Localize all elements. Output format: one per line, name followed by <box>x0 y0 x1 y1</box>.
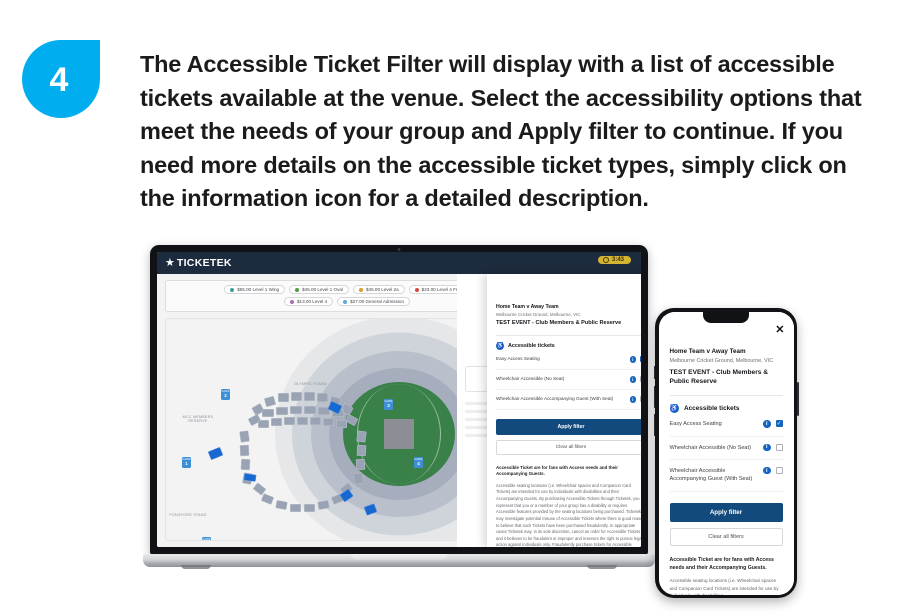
legend-color-dot <box>290 300 294 304</box>
modal-description-body: Accessible seating locations (i.e. Wheel… <box>670 577 783 594</box>
seat-block[interactable] <box>278 393 289 402</box>
seat-block[interactable] <box>291 392 302 401</box>
seat-block[interactable] <box>310 417 321 425</box>
close-icon[interactable]: ✕ <box>640 279 641 288</box>
legend-color-dot <box>359 288 363 292</box>
seat-block[interactable] <box>356 430 366 442</box>
legend-label: $45.00 Level 1 Oval <box>302 287 343 292</box>
price-legend-row-1: $55.00 Level 1 Wing $45.00 Level 1 Oval … <box>224 285 470 294</box>
seat-block[interactable] <box>297 417 308 425</box>
information-icon[interactable]: i <box>630 396 637 403</box>
filter-option-row[interactable]: Wheelchair Accessible Accompanying Guest… <box>496 390 641 410</box>
legend-label: $45.00 Level 2a <box>366 287 399 292</box>
seat-block[interactable] <box>317 393 328 402</box>
seat-block[interactable] <box>258 420 269 428</box>
clear-all-filters-button[interactable]: Clear all filters <box>496 440 641 455</box>
seat-block[interactable] <box>241 459 251 470</box>
seat-block[interactable] <box>264 396 276 407</box>
filter-option-checkbox[interactable] <box>776 444 783 451</box>
stand-label-ponsford: PONSFORD STAND <box>168 513 208 517</box>
accessibility-icon: ♿ <box>670 404 680 414</box>
legend-item[interactable]: $45.00 Level 2a <box>353 285 405 294</box>
seat-block[interactable] <box>271 418 282 426</box>
laptop-camera-icon <box>398 248 401 251</box>
step-number: 4 <box>50 63 69 97</box>
seat-block[interactable] <box>323 418 334 426</box>
modal-event-name: TEST EVENT - Club Members & Public Reser… <box>670 368 783 386</box>
filter-option-label: Easy Access Seating <box>670 420 759 428</box>
filter-option-label: Wheelchair Accessible Accompanying Guest… <box>496 396 626 403</box>
modal-event-name: TEST EVENT - Club Members & Public Reser… <box>496 320 641 328</box>
apply-filter-button[interactable]: Apply filter <box>670 503 783 522</box>
filter-option-row[interactable]: Wheelchair Accessible (No Seat) i <box>670 437 783 460</box>
filter-option-label: Wheelchair Accessible Accompanying Guest… <box>670 467 759 484</box>
information-icon[interactable]: i <box>763 420 771 428</box>
modal-venue: Melbourne Cricket Ground, Melbourne, VIC <box>496 312 641 317</box>
stand-label-mcc: MCC MEMBERS RESERVE <box>178 415 218 423</box>
accessibility-icon: ♿ <box>496 342 504 350</box>
laptop-screen-bezel: ★ TICKETEK 3:43 <box>150 245 648 555</box>
modal-description-body: Accessible seating locations (i.e. Wheel… <box>496 483 641 547</box>
session-timer-value: 3:43 <box>612 257 624 263</box>
clear-all-filters-button[interactable]: Clear all filters <box>670 528 783 546</box>
filter-option-checkbox[interactable] <box>776 467 783 474</box>
gate-number: 1 <box>185 462 188 467</box>
information-icon[interactable]: i <box>763 467 771 475</box>
gate-number: 2 <box>224 394 227 399</box>
seat-block[interactable] <box>353 472 364 484</box>
seat-block-highlighted[interactable] <box>244 473 257 482</box>
phone-frame: ✕ Home Team v Away Team Melbourne Cricke… <box>655 308 797 598</box>
seat-block[interactable] <box>262 409 274 417</box>
close-icon[interactable]: ✕ <box>775 325 784 336</box>
gate-marker-7[interactable]: GATE 7 <box>202 537 211 541</box>
ticketek-star-icon: ★ <box>165 258 175 269</box>
phone-volume-up-button <box>654 386 656 408</box>
gate-marker-3[interactable]: GATE 3 <box>384 399 393 410</box>
information-icon[interactable]: i <box>630 356 637 363</box>
modal-venue: Melbourne Cricket Ground, Melbourne, VIC <box>670 358 783 364</box>
legend-color-dot <box>295 288 299 292</box>
session-timer-badge: 3:43 <box>598 256 631 264</box>
apply-filter-button[interactable]: Apply filter <box>496 419 641 435</box>
phone-mockup: ✕ Home Team v Away Team Melbourne Cricke… <box>655 308 797 598</box>
accessible-ticket-filter-modal: ✕ Home Team v Away Team Melbourne Cricke… <box>487 274 641 547</box>
seat-block[interactable] <box>275 500 287 510</box>
information-icon[interactable]: i <box>630 376 637 383</box>
gate-marker-4[interactable]: GATE 4 <box>414 457 423 468</box>
phone-screen: ✕ Home Team v Away Team Melbourne Cricke… <box>659 312 794 595</box>
filter-option-label: Wheelchair Accessible (No Seat) <box>496 376 626 383</box>
filter-option-checkbox[interactable] <box>640 376 641 382</box>
seat-block[interactable] <box>304 406 316 414</box>
filter-option-checkbox[interactable] <box>640 396 641 402</box>
clock-icon <box>603 257 609 263</box>
gate-marker-2[interactable]: GATE 2 <box>221 389 230 400</box>
phone-volume-down-button <box>654 414 656 436</box>
phone-accessible-filter-modal: ✕ Home Team v Away Team Melbourne Cricke… <box>659 312 794 595</box>
instruction-heading: The Accessible Ticket Filter will displa… <box>140 48 870 216</box>
seat-block[interactable] <box>290 406 302 414</box>
slide-root: 4 The Accessible Ticket Filter will disp… <box>0 0 905 614</box>
gate-label: GATE <box>203 538 211 541</box>
laptop-mockup: ★ TICKETEK 3:43 <box>143 245 655 585</box>
seat-block[interactable] <box>336 420 347 428</box>
device-mockup-stage: ★ TICKETEK 3:43 <box>0 228 905 614</box>
legend-color-dot <box>415 288 419 292</box>
phone-notch <box>703 312 749 323</box>
seat-block[interactable] <box>284 417 295 425</box>
modal-divider <box>670 395 783 396</box>
seat-block[interactable] <box>304 504 315 512</box>
gate-number: 4 <box>417 462 420 467</box>
price-legend-row-2: $13.00 Level 4 $27.00 General Admission <box>284 297 410 306</box>
step-number-badge: 4 <box>22 40 100 118</box>
legend-label: $13.00 Level 4 <box>297 299 327 304</box>
legend-item[interactable]: $45.00 Level 1 Oval <box>289 285 349 294</box>
seat-block[interactable] <box>276 407 288 415</box>
modal-section-title: ♿ Accessible tickets <box>670 404 783 414</box>
filter-option-row[interactable]: Easy Access Seating i ✓ <box>670 413 783 436</box>
legend-item[interactable]: $55.00 Level 1 Wing <box>224 285 285 294</box>
ticketek-logo[interactable]: ★ TICKETEK <box>165 257 232 269</box>
seat-block[interactable] <box>261 493 274 505</box>
seat-block[interactable] <box>356 459 366 470</box>
seat-block[interactable] <box>290 504 301 512</box>
seat-block[interactable] <box>357 445 367 456</box>
phone-power-button <box>797 382 799 416</box>
legend-item[interactable]: $27.00 General Admission <box>337 297 410 306</box>
modal-section-label: Accessible tickets <box>508 343 555 349</box>
ticketek-app-header: ★ TICKETEK 3:43 <box>157 252 641 274</box>
legend-item[interactable]: $13.00 Level 4 <box>284 297 333 306</box>
laptop-lid-notch <box>351 554 447 560</box>
legend-color-dot <box>343 300 347 304</box>
information-icon[interactable]: i <box>763 444 771 452</box>
modal-divider <box>496 335 641 336</box>
modal-team-name: Home Team v Away Team <box>496 304 641 310</box>
laptop-foot-right <box>587 565 617 569</box>
seat-block[interactable] <box>304 392 315 401</box>
modal-section-label: Accessible tickets <box>684 405 739 412</box>
modal-section-title: ♿ Accessible tickets <box>496 342 641 350</box>
legend-label: $55.00 Level 1 Wing <box>237 287 279 292</box>
ticketek-app-body: $55.00 Level 1 Wing $45.00 Level 1 Oval … <box>157 274 641 547</box>
map-center-pitch <box>384 419 414 449</box>
ticketek-logo-text: TICKETEK <box>177 257 232 269</box>
filter-option-row[interactable]: Wheelchair Accessible (No Seat) i <box>496 370 641 390</box>
filter-option-label: Wheelchair Accessible (No Seat) <box>670 444 759 452</box>
laptop-screen-content: ★ TICKETEK 3:43 <box>157 252 641 547</box>
laptop-foot-left <box>181 565 211 569</box>
stand-label-olympic: OLYMPIC STAND <box>294 382 327 386</box>
seat-block[interactable] <box>239 430 249 442</box>
filter-option-row[interactable]: Wheelchair Accessible Accompanying Guest… <box>670 460 783 492</box>
seat-block-highlighted[interactable] <box>208 447 223 460</box>
modal-team-name: Home Team v Away Team <box>670 348 783 355</box>
filter-option-checkbox[interactable]: ✓ <box>776 420 783 427</box>
modal-description-title: Accessible Ticket are for fans with Acce… <box>670 557 783 573</box>
legend-label: $27.00 General Admission <box>350 299 404 304</box>
gate-number: 3 <box>387 404 390 409</box>
phone-mute-switch <box>654 366 656 379</box>
gate-marker-1[interactable]: GATE 1 <box>182 457 191 468</box>
legend-color-dot <box>230 288 234 292</box>
filter-option-label: Easy Access Seating <box>496 356 626 363</box>
filter-option-checkbox[interactable]: ✓ <box>640 356 641 362</box>
modal-description-title: Accessible Ticket are for fans with Acce… <box>496 465 641 478</box>
filter-option-row[interactable]: Easy Access Seating i ✓ <box>496 350 641 370</box>
seat-block[interactable] <box>240 445 250 456</box>
